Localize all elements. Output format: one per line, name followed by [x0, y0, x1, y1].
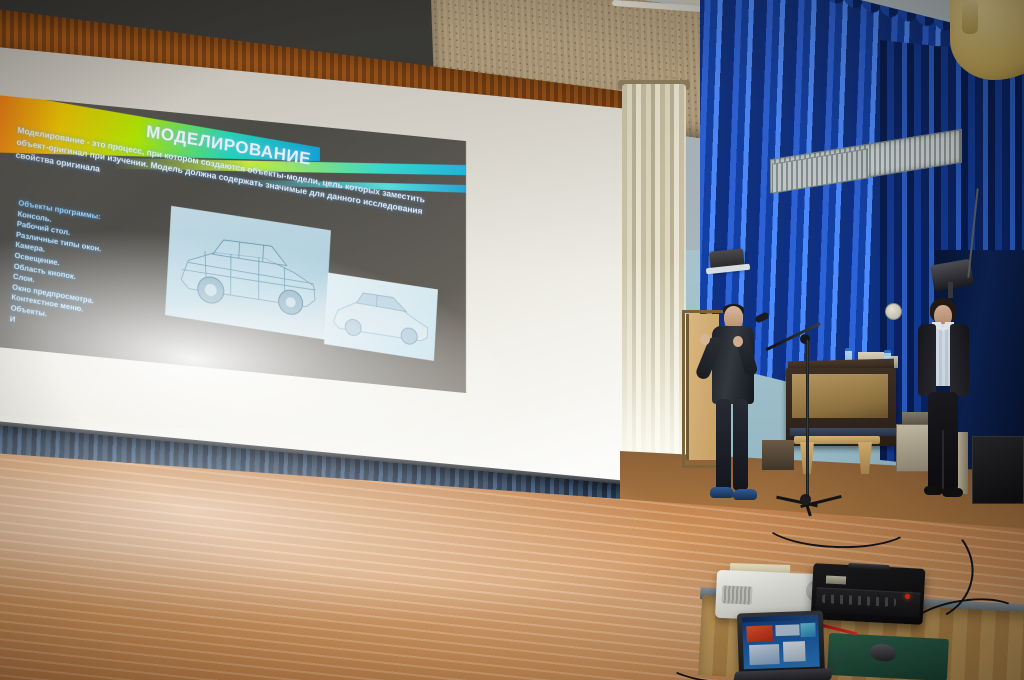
- screen-thumbnail: [800, 623, 815, 638]
- photo-scene: МОДЕЛИРОВАНИЕ Моделирование - это процес…: [0, 0, 1024, 680]
- presenter-shoe-left: [710, 487, 734, 498]
- screen-thumbnail: [775, 624, 799, 636]
- floor-speaker-cabinet: [972, 436, 1024, 504]
- laptop-screen[interactable]: [742, 615, 820, 670]
- teacher-trouser-split: [942, 430, 944, 490]
- teacher-jacket-right: [950, 324, 969, 396]
- teacher-shoe-right: [942, 488, 963, 497]
- presenter-shoe-right: [733, 489, 757, 500]
- wall-clock: [885, 303, 902, 320]
- gold-tassel: [962, 0, 978, 34]
- presenter-hand-right: [733, 336, 743, 347]
- storage-crate: [762, 440, 794, 470]
- cream-side-curtain: [622, 84, 686, 480]
- presenter-leg-right: [733, 399, 748, 491]
- screen-thumbnail: [746, 625, 773, 642]
- screen-thumbnail: [749, 644, 780, 665]
- amplifier-power-led: [905, 594, 910, 599]
- screen-thumbnail: [783, 641, 806, 662]
- teacher-person: [912, 300, 974, 506]
- wall-speaker-arm: [948, 282, 953, 298]
- microphone-stand-pole: [806, 340, 809, 506]
- teacher-jacket-left: [918, 324, 936, 396]
- laptop-computer[interactable]: [737, 611, 825, 678]
- teacher-shoe-left: [924, 486, 943, 495]
- presenter-hand-left: [700, 334, 710, 345]
- projector-vent: [722, 585, 753, 604]
- presenter-person: [700, 306, 764, 514]
- presenter-leg-left: [716, 399, 731, 491]
- amplifier-display: [826, 575, 846, 584]
